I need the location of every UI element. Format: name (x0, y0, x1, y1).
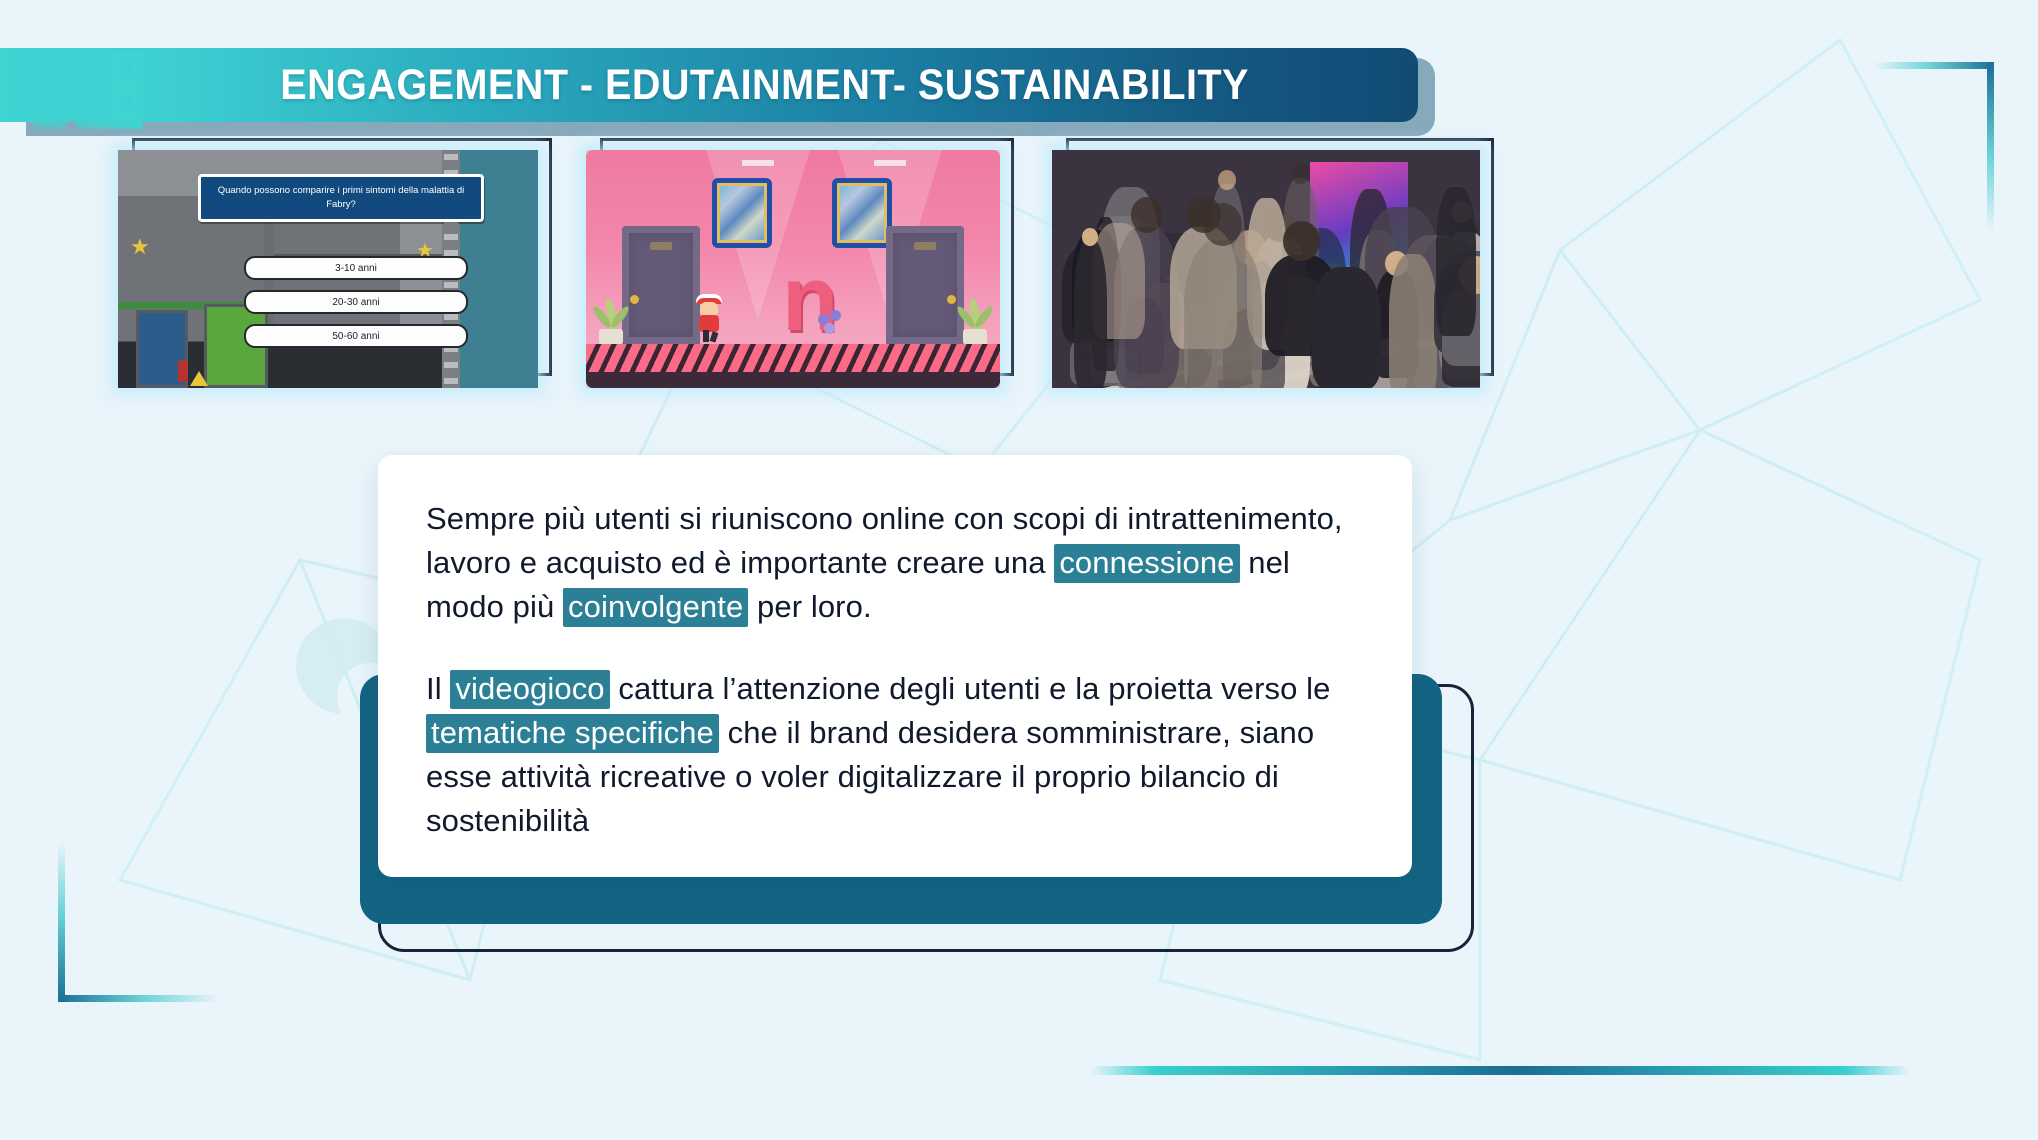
artwork-frame (832, 178, 892, 248)
highlight-videogioco: videogioco (450, 670, 609, 709)
paragraph-2-prefix: Il (426, 671, 450, 706)
highlight-connessione: connessione (1054, 544, 1239, 583)
quiz-answer-option[interactable]: 50-60 anni (244, 324, 468, 348)
quiz-answer-option[interactable]: 3-10 anni (244, 256, 468, 280)
warning-icon (190, 371, 208, 386)
quiz-question: Quando possono comparire i primi sintomi… (198, 174, 484, 222)
paragraph-1-suffix: per loro. (748, 589, 871, 624)
body-card-group: Sempre più utenti si riuniscono online c… (360, 590, 1480, 1070)
flower-pot (816, 310, 850, 344)
quiz-answer-list: 3-10 anni 20-30 anni 50-60 anni (244, 256, 468, 358)
thumbnail-quiz-game[interactable]: ★ ★ Quando possono comparire i primi sin… (118, 150, 538, 388)
game-character (694, 294, 724, 342)
thumbnail-image: n (586, 150, 1000, 388)
highlight-tematiche-specifiche: tematiche specifiche (426, 714, 719, 753)
star-icon: ★ (130, 234, 150, 260)
thumbnail-pink-room-game[interactable]: n (586, 150, 1000, 388)
body-card: Sempre più utenti si riuniscono online c… (378, 455, 1412, 877)
plant-decoration (960, 300, 990, 346)
game-door (622, 226, 700, 344)
highlight-coinvolgente: coinvolgente (563, 588, 748, 627)
thumbnail-image: ★ ★ Quando possono comparire i primi sin… (118, 150, 538, 388)
slide-canvas: ENGAGEMENT - EDUTAINMENT- SUSTAINABILITY (0, 0, 2038, 1140)
body-paragraph-2: Il videogioco cattura l’attenzione degli… (426, 667, 1364, 843)
body-paragraph-1: Sempre più utenti si riuniscono online c… (426, 497, 1364, 629)
thumbnail-image (1052, 150, 1480, 388)
artwork-frame (712, 178, 772, 248)
quiz-answer-option[interactable]: 20-30 anni (244, 290, 468, 314)
paragraph-2-middle: cattura l’attenzione degli utenti e la p… (610, 671, 1331, 706)
plant-decoration (596, 300, 626, 346)
thumbnail-event-photo[interactable] (1052, 150, 1480, 388)
game-door (886, 226, 964, 344)
